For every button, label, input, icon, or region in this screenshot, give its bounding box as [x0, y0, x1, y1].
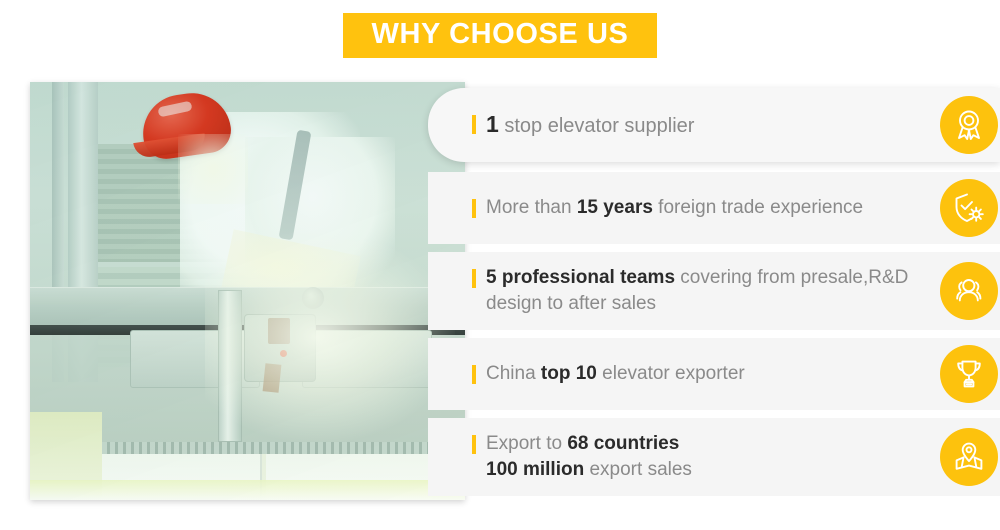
feature-line-2: 100 million export sales	[486, 457, 692, 483]
feature-text: 1 stop elevator supplier	[486, 111, 792, 139]
feature-text: 5 professional teams covering from presa…	[486, 265, 1000, 317]
trophy-icon	[940, 345, 998, 403]
feature-text: China top 10 elevator exporter	[486, 361, 843, 387]
factory-photo-art	[30, 82, 465, 500]
feature-row[interactable]: 5 professional teams covering from presa…	[428, 252, 1000, 330]
feature-line: 5 professional teams covering from presa…	[486, 265, 908, 291]
feature-highlight: 5 professional teams	[486, 267, 675, 288]
shield-gear-icon	[940, 179, 998, 237]
factory-photo	[30, 82, 465, 500]
page-title: WHY CHOOSE US	[343, 13, 656, 58]
feature-pre: Export to	[486, 433, 567, 454]
feature-rest: stop elevator supplier	[499, 115, 695, 137]
feature-row[interactable]: China top 10 elevator exporter	[428, 338, 1000, 410]
feature-post: foreign trade experience	[653, 197, 863, 218]
feature-post-2: export sales	[584, 459, 692, 480]
feature-line: China top 10 elevator exporter	[486, 361, 745, 387]
feature-highlight-2: 100 million	[486, 459, 584, 480]
feature-list: 1 stop elevator supplier More than 15 ye…	[428, 88, 1000, 504]
feature-post: covering from presale,R&D	[675, 267, 908, 288]
feature-highlight: 1	[486, 111, 499, 137]
map-pin-icon	[940, 428, 998, 486]
feature-line-2: design to after sales	[486, 291, 908, 317]
feature-text: More than 15 years foreign trade experie…	[486, 195, 961, 221]
feature-pre: China	[486, 363, 541, 384]
feature-post: elevator exporter	[597, 363, 745, 384]
feature-line: 1 stop elevator supplier	[486, 111, 694, 139]
feature-highlight: 68 countries	[567, 433, 679, 454]
team-people-icon	[940, 262, 998, 320]
feature-highlight: 15 years	[577, 197, 653, 218]
feature-line: More than 15 years foreign trade experie…	[486, 195, 863, 221]
feature-line: Export to 68 countries	[486, 431, 692, 457]
header: WHY CHOOSE US	[0, 0, 1000, 70]
feature-highlight: top 10	[541, 363, 597, 384]
award-ribbon-icon	[940, 96, 998, 154]
feature-row[interactable]: 1 stop elevator supplier	[428, 88, 1000, 162]
feature-row[interactable]: Export to 68 countries 100 million expor…	[428, 418, 1000, 496]
feature-row[interactable]: More than 15 years foreign trade experie…	[428, 172, 1000, 244]
feature-text: Export to 68 countries 100 million expor…	[486, 431, 790, 483]
feature-pre: More than	[486, 197, 577, 218]
